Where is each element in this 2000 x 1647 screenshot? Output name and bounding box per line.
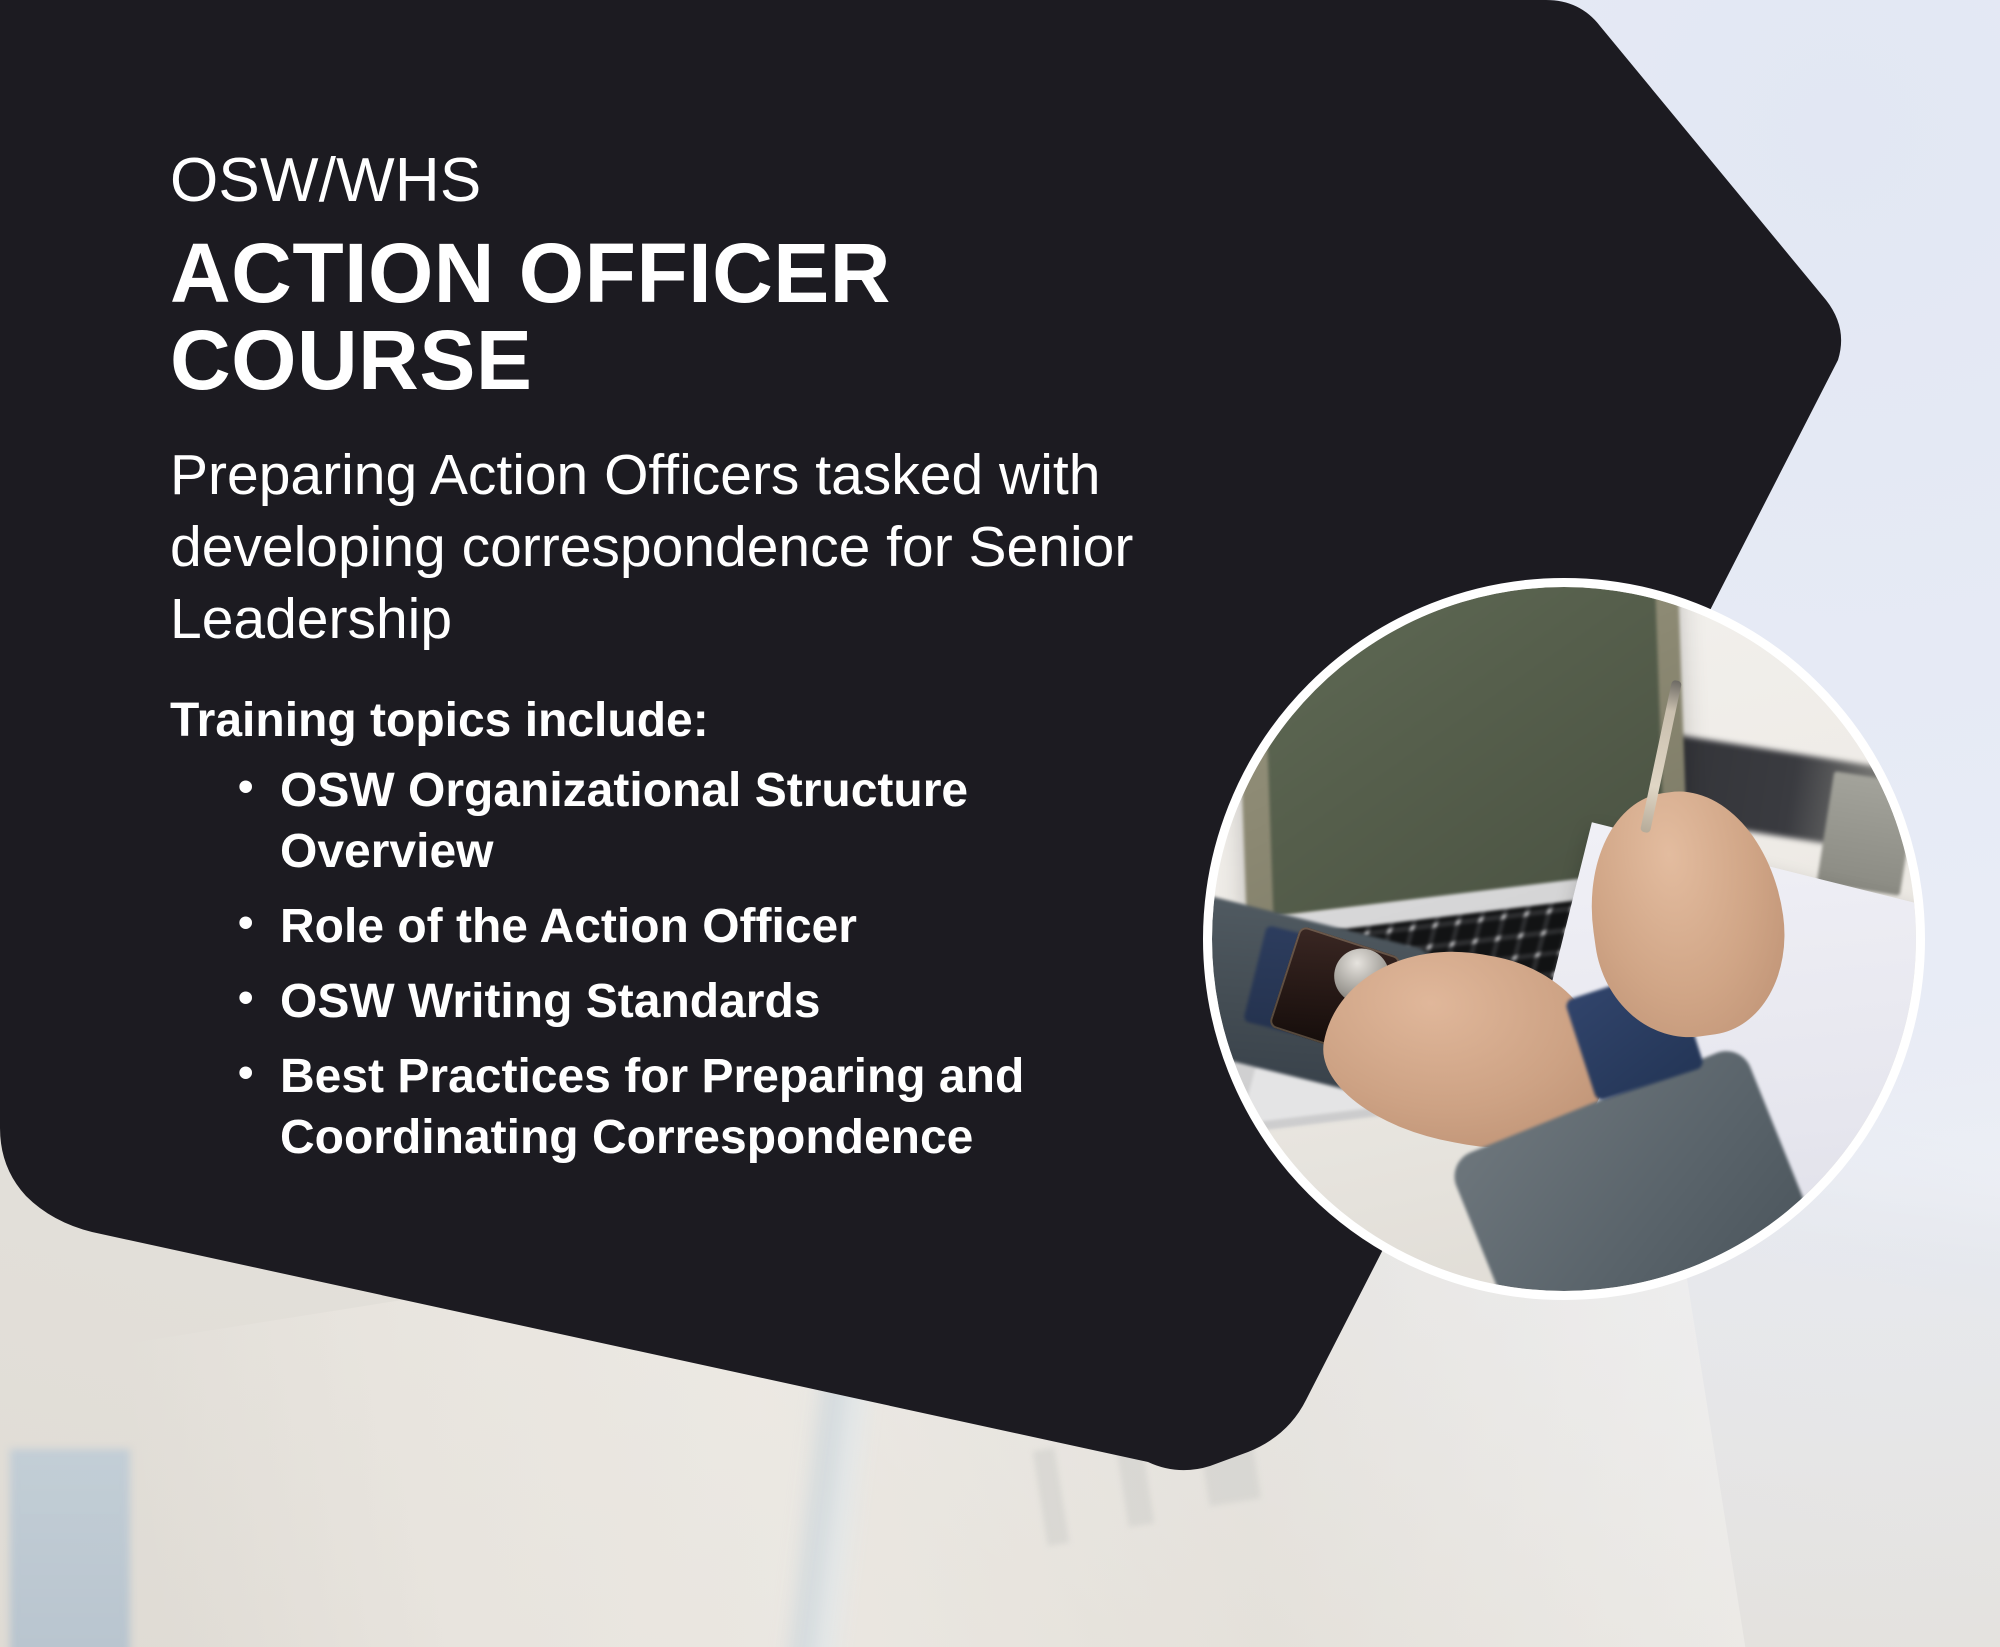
poster-text-block: OSW/WHS ACTION OFFICER COURSE Preparing … xyxy=(170,150,1180,1183)
list-item: Role of the Action Officer xyxy=(232,897,1180,958)
shelf-edge xyxy=(1816,771,1916,895)
circular-photo xyxy=(1203,578,1925,1300)
distant-tower xyxy=(10,1449,130,1647)
page-title: ACTION OFFICER COURSE xyxy=(170,230,1180,405)
topics-heading: Training topics include: xyxy=(170,692,1180,750)
topics-list: OSW Organizational Structure Overview Ro… xyxy=(170,761,1180,1169)
list-item: OSW Writing Standards xyxy=(232,972,1180,1033)
subtitle-text: Preparing Action Officers tasked with de… xyxy=(170,439,1180,656)
photo-inner xyxy=(1212,587,1916,1291)
eyebrow-label: OSW/WHS xyxy=(170,150,1180,212)
list-item: Best Practices for Preparing and Coordin… xyxy=(232,1047,1180,1169)
list-item: OSW Organizational Structure Overview xyxy=(232,761,1180,883)
poster-canvas: OSW/WHS ACTION OFFICER COURSE Preparing … xyxy=(0,0,2000,1647)
